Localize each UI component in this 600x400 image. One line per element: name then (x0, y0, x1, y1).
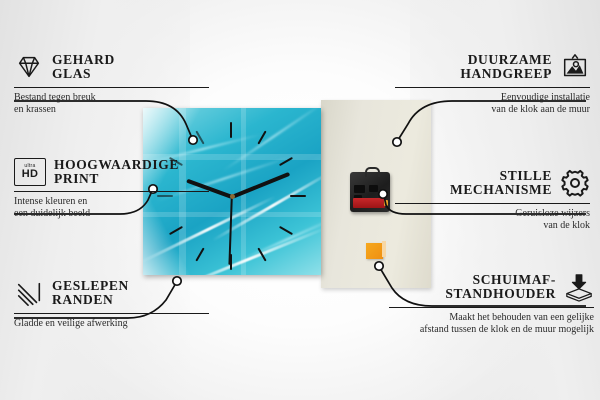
divider (395, 203, 590, 204)
feature-title: DUURZAME HANDGREEP (460, 53, 552, 81)
diagonal-lines-icon (14, 278, 44, 308)
clock-tick (290, 195, 306, 197)
clock-tick (195, 131, 204, 145)
foam-spacer (366, 243, 383, 259)
feather-streak (237, 216, 321, 263)
clock-hub (230, 194, 235, 199)
divider (389, 307, 594, 308)
clock-tick (279, 226, 293, 235)
feature-title: GEHARD GLAS (52, 53, 115, 81)
battery (353, 198, 385, 208)
diamond-icon (14, 52, 44, 82)
feature-stille-mechanisme: STILLE MECHANISME Geruisloze wijzers van… (395, 168, 590, 231)
feature-duurzame-handgreep: DUURZAME HANDGREEP Eenvoudige installati… (395, 52, 590, 115)
movement-slot (354, 185, 365, 193)
feature-subtitle: Eenvoudige installatie van de klok aan d… (395, 92, 590, 115)
feature-subtitle: Intense kleuren en een duidelijk beeld (14, 196, 209, 219)
feature-subtitle: Bestand tegen breuk en krassen (14, 92, 209, 115)
hanger-icon (365, 167, 380, 177)
feature-title: STILLE MECHANISME (450, 169, 552, 197)
divider (395, 87, 590, 88)
feature-title: HOOGWAARDIGE PRINT (54, 158, 179, 186)
feature-title: GESLEPEN RANDEN (52, 279, 129, 307)
battery-terminal (384, 200, 388, 206)
feature-title: SCHUIMAF- STANDHOUDER (445, 273, 556, 301)
feature-subtitle: Geruisloze wijzers van de klok (395, 208, 590, 231)
clock-tick (195, 248, 204, 262)
feature-subtitle: Maakt het behouden van een gelijke afsta… (389, 312, 594, 335)
clock-tick (230, 122, 232, 138)
framed-picture-icon (560, 52, 590, 82)
press-down-icon (564, 272, 594, 302)
feature-schuimafstandhouder: SCHUIMAF- STANDHOUDER Maakt het behouden… (389, 272, 594, 335)
clock-movement (350, 172, 390, 212)
feature-hoogwaardige-print: ultra HD HOOGWAARDIGE PRINT Intense kleu… (14, 158, 209, 219)
divider (14, 313, 209, 314)
foam-spacer-edge (382, 241, 386, 257)
ultra-hd-icon-main: HD (22, 169, 39, 180)
feature-gehard-glas: GEHARD GLAS Bestand tegen breuk en krass… (14, 52, 209, 115)
divider (14, 191, 209, 192)
divider (14, 87, 209, 88)
feature-geslepen-randen: GESLEPEN RANDEN Gladde en veilige afwerk… (14, 278, 209, 330)
gear-icon (560, 168, 590, 198)
ultra-hd-icon: ultra HD (14, 158, 46, 186)
product-infographic: GEHARD GLAS Bestand tegen breuk en krass… (0, 0, 600, 400)
movement-slot (369, 185, 378, 192)
feature-subtitle: Gladde en veilige afwerking (14, 318, 209, 330)
